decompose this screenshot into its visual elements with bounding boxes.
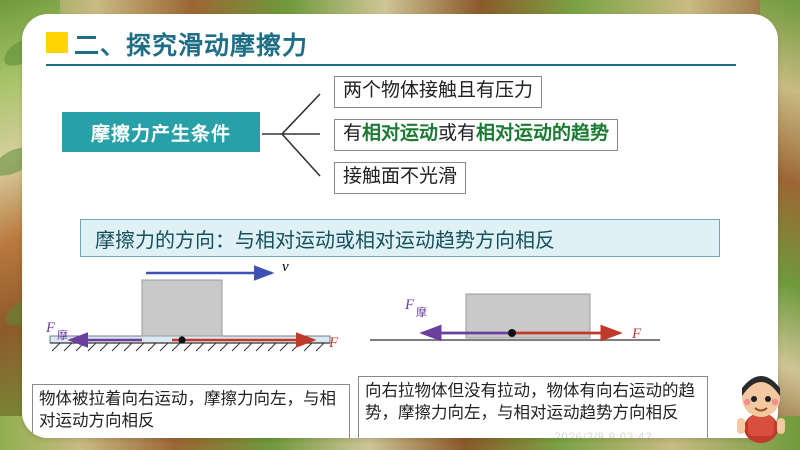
figure-right-caption: 向右拉物体但没有拉动，物体有向右运动的趋势，摩擦力向左，与相对运动趋势方向相反 <box>358 376 708 438</box>
figure-right-caption-text: 向右拉物体但没有拉动，物体有向右运动的趋势，摩擦力向左，与相对运动趋势方向相反 <box>365 382 695 422</box>
condition-item-2-highlight-2: 相对运动的趋势 <box>476 123 609 144</box>
slide-canvas: 二、探究滑动摩擦力 摩擦力产生条件 两个物体接触且有压力 有相对运动或有相对运动… <box>0 0 800 450</box>
figure-left-velocity-label: v <box>282 259 289 276</box>
condition-item-1: 两个物体接触且有压力 <box>334 76 542 108</box>
figure-left-caption: 物体被拉着向右运动，摩擦力向左，与相对运动方向相反 <box>32 384 350 438</box>
condition-item-2-mid: 或有 <box>438 123 476 144</box>
page-title: 二、探究滑动摩擦力 <box>46 26 726 62</box>
condition-label-text: 摩擦力产生条件 <box>91 119 231 146</box>
condition-item-3-text: 接触面不光滑 <box>343 166 457 187</box>
condition-item-2: 有相对运动或有相对运动的趋势 <box>334 119 618 151</box>
title-text: 二、探究滑动摩擦力 <box>74 26 308 62</box>
direction-banner-text: 摩擦力的方向：与相对运动或相对运动趋势方向相反 <box>95 224 555 253</box>
figure-left-caption-text: 物体被拉着向右运动，摩擦力向左，与相对运动方向相反 <box>39 390 336 430</box>
figure-left-friction-label: F <box>46 320 55 337</box>
figure-right-drawing <box>370 282 715 382</box>
figure-right-pull-label: F <box>632 326 641 343</box>
condition-item-1-text: 两个物体接触且有压力 <box>343 80 533 101</box>
direction-banner: 摩擦力的方向：与相对运动或相对运动趋势方向相反 <box>80 219 720 257</box>
condition-item-2-prefix: 有 <box>343 123 362 144</box>
figure-left-drawing <box>32 259 362 384</box>
condition-item-2-highlight-1: 相对运动 <box>362 123 438 144</box>
title-accent-block <box>46 32 68 53</box>
timestamp-watermark: 2026/3/8 8:03:42 <box>554 430 652 438</box>
figure-right: F 摩 F <box>370 282 715 382</box>
slide-content-card: 二、探究滑动摩擦力 摩擦力产生条件 两个物体接触且有压力 有相对运动或有相对运动… <box>22 14 778 438</box>
figure-left-friction-sub: 摩 <box>57 327 68 343</box>
mascot-icon <box>732 366 790 444</box>
condition-label-box: 摩擦力产生条件 <box>62 112 260 152</box>
figure-left-pull-label: F <box>329 335 338 352</box>
figure-left: v F 摩 F <box>32 259 362 384</box>
figure-right-friction-label: F <box>405 297 414 314</box>
figure-right-friction-sub: 摩 <box>416 304 427 320</box>
title-underline <box>46 64 736 66</box>
brace-connector-icon <box>260 84 322 184</box>
condition-item-3: 接触面不光滑 <box>334 162 466 194</box>
